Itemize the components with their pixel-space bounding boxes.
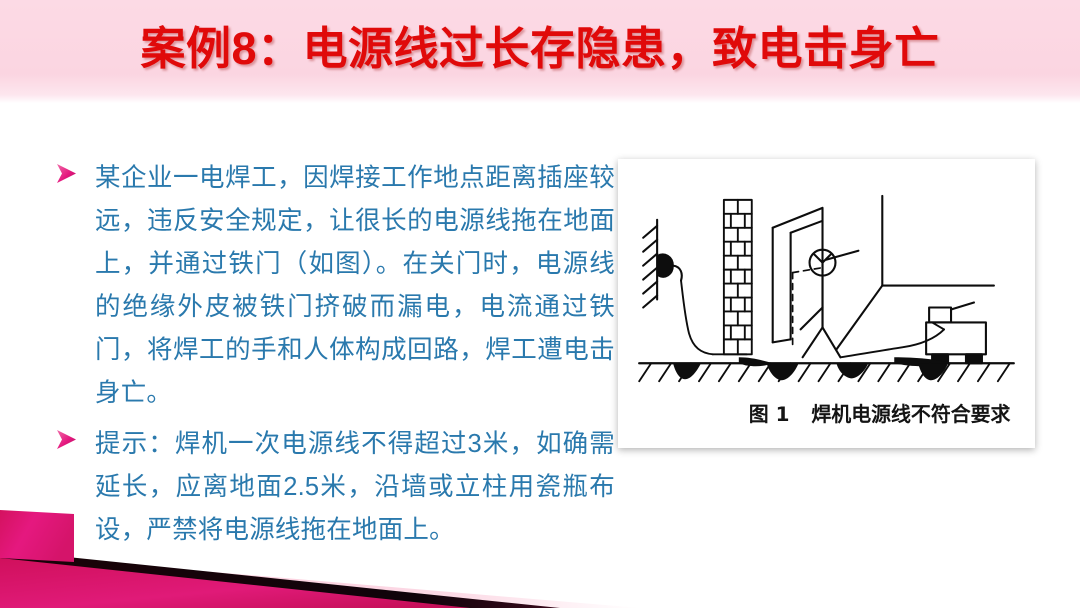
welding-hazard-diagram: 图 1 焊机电源线不符合要求 bbox=[627, 168, 1026, 439]
figure-caption-text: 焊机电源线不符合要求 bbox=[811, 402, 1010, 426]
slide-canvas: 案例8：电源线过长存隐患，致电击身亡 某企业一电焊工，因焊接工作地点距离插座较远… bbox=[0, 0, 1080, 608]
arrow-bullet-icon bbox=[55, 157, 95, 185]
decor-magenta-wedge bbox=[0, 558, 470, 608]
illustration-image: 图 1 焊机电源线不符合要求 bbox=[627, 168, 1026, 439]
page-title: 案例8：电源线过长存隐患，致电击身亡 bbox=[0, 20, 1080, 78]
figure-caption-label: 图 1 bbox=[749, 403, 790, 426]
list-item: 提示：焊机一次电源线不得超过3米，如确需延长，应离地面2.5米，沿墙或立柱用瓷瓶… bbox=[55, 423, 615, 552]
illustration-panel: 图 1 焊机电源线不符合要求 bbox=[618, 159, 1035, 448]
list-item: 某企业一电焊工，因焊接工作地点距离插座较远，违反安全规定，让很长的电源线拖在地面… bbox=[55, 157, 615, 415]
body-text-column: 某企业一电焊工，因焊接工作地点距离插座较远，违反安全规定，让很长的电源线拖在地面… bbox=[55, 157, 615, 560]
bullet-text-tip: 提示：焊机一次电源线不得超过3米，如确需延长，应离地面2.5米，沿墙或立柱用瓷瓶… bbox=[95, 423, 615, 552]
decor-pink-stripe bbox=[0, 554, 640, 608]
arrow-bullet-icon bbox=[55, 423, 95, 451]
bullet-text-incident: 某企业一电焊工，因焊接工作地点距离插座较远，违反安全规定，让很长的电源线拖在地面… bbox=[95, 157, 615, 415]
